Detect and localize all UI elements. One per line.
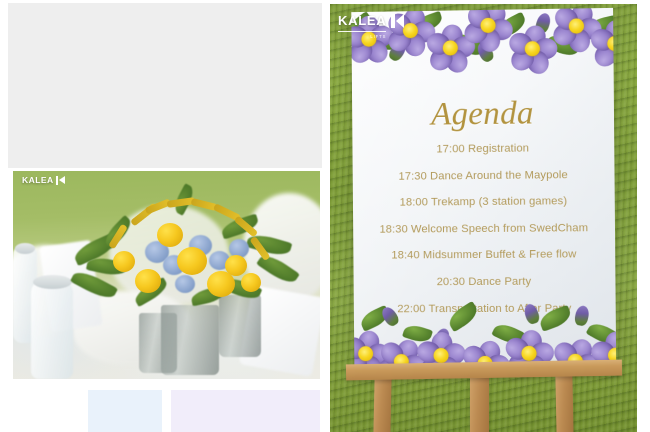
glass-bottle bbox=[31, 279, 73, 379]
agenda-sign-photo[interactable]: Agenda 17:00 Registration 17:30 Dance Ar… bbox=[330, 4, 637, 432]
purple-flower bbox=[429, 26, 471, 69]
image-placeholder-top[interactable] bbox=[8, 3, 322, 168]
gallery-screen: KALEA Agenda 17:00 Registration 17:30 Da… bbox=[0, 0, 650, 432]
agenda-item-list: 17:00 Registration 17:30 Dance Around th… bbox=[358, 142, 609, 330]
watermark-logo: KALEA bbox=[22, 176, 65, 185]
flower-table-photo[interactable]: KALEA bbox=[13, 171, 320, 379]
easel-leg bbox=[470, 376, 489, 432]
watermark-brand: KALEA bbox=[338, 13, 386, 28]
bottle-cap bbox=[15, 243, 35, 254]
left-column: KALEA bbox=[0, 0, 330, 432]
purple-flower bbox=[511, 27, 554, 70]
agenda-item: 17:30 Dance Around the Maypole bbox=[359, 168, 609, 182]
skip-back-icon bbox=[56, 176, 65, 185]
agenda-item: 18:40 Midsummer Buffet & Free flow bbox=[359, 249, 609, 262]
purple-flower bbox=[419, 334, 461, 366]
watermark-brand: KALEA bbox=[22, 176, 54, 185]
purple-flower bbox=[466, 8, 508, 46]
agenda-item: 22:00 Transportation to After Party bbox=[360, 302, 610, 315]
bottle-cap bbox=[33, 275, 72, 289]
agenda-item: 18:00 Trekamp (3 station games) bbox=[359, 195, 609, 209]
agenda-sign-board: Agenda 17:00 Registration 17:30 Dance Ar… bbox=[351, 8, 616, 366]
watermark-subtitle: LIFTS bbox=[370, 34, 386, 39]
agenda-item: 17:00 Registration bbox=[358, 142, 608, 157]
easel-leg bbox=[555, 376, 573, 432]
purple-flower bbox=[351, 332, 386, 366]
skip-back-icon bbox=[391, 14, 404, 28]
flower-bouquet bbox=[71, 189, 301, 324]
watermark-logo: KALEA LIFTS bbox=[338, 12, 404, 30]
purple-flower bbox=[593, 22, 616, 65]
purple-flower bbox=[555, 8, 598, 47]
easel-leg bbox=[373, 376, 391, 432]
agenda-item: 20:30 Dance Party bbox=[360, 275, 610, 288]
agenda-item: 18:30 Welcome Speech from SwedCham bbox=[359, 222, 609, 236]
thumbnail-lavender[interactable] bbox=[171, 390, 320, 432]
agenda-title: Agenda bbox=[352, 94, 614, 134]
thumbnail-blue[interactable] bbox=[88, 390, 162, 432]
